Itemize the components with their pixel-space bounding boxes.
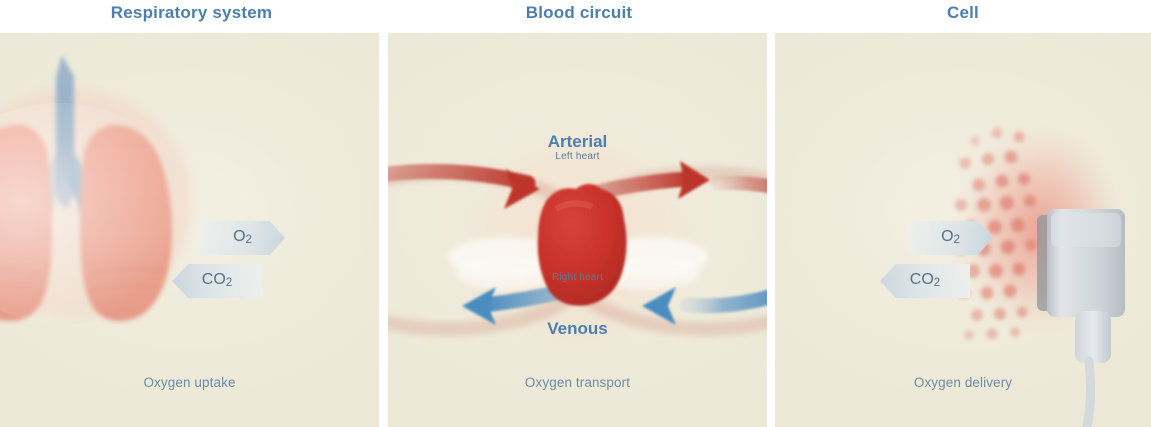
co2-arrow-respiratory: CO2 (172, 264, 262, 298)
header-respiratory-system: Respiratory system (0, 0, 383, 33)
heart-circulation-illustration (388, 33, 767, 427)
sensor-cable-connector (1075, 311, 1111, 363)
panel-respiratory-system: O2 CO2 Oxygen uptake (0, 33, 379, 427)
caption-oxygen-uptake: Oxygen uptake (0, 375, 379, 390)
caption-oxygen-delivery: Oxygen delivery (775, 375, 1151, 390)
o2-arrow-cell: O2 (908, 221, 993, 255)
o2-label: O2 (941, 228, 960, 247)
heart-shape (538, 184, 627, 306)
label-arterial: Arterial (388, 132, 767, 152)
co2-label: CO2 (202, 271, 232, 290)
panel-cell: O2 CO2 Oxygen delivery (775, 33, 1151, 427)
label-left-heart: Left heart (388, 151, 767, 162)
panel-blood-circuit: Arterial Left heart Right heart Venous O… (388, 33, 767, 427)
diagram-root: Respiratory system Blood circuit Cell (0, 0, 1151, 427)
caption-oxygen-transport: Oxygen transport (388, 375, 767, 390)
label-right-heart: Right heart (388, 272, 767, 283)
sensor-cable (1087, 361, 1091, 427)
panel-headers-row: Respiratory system Blood circuit Cell (0, 0, 1151, 33)
co2-arrow-cell: CO2 (880, 264, 970, 298)
header-cell: Cell (775, 0, 1151, 33)
o2-label: O2 (233, 228, 252, 247)
co2-label: CO2 (910, 271, 940, 290)
lungs-illustration (0, 33, 379, 427)
header-blood-circuit: Blood circuit (388, 0, 770, 33)
label-venous: Venous (388, 319, 767, 339)
o2-arrow-respiratory: O2 (200, 221, 285, 255)
